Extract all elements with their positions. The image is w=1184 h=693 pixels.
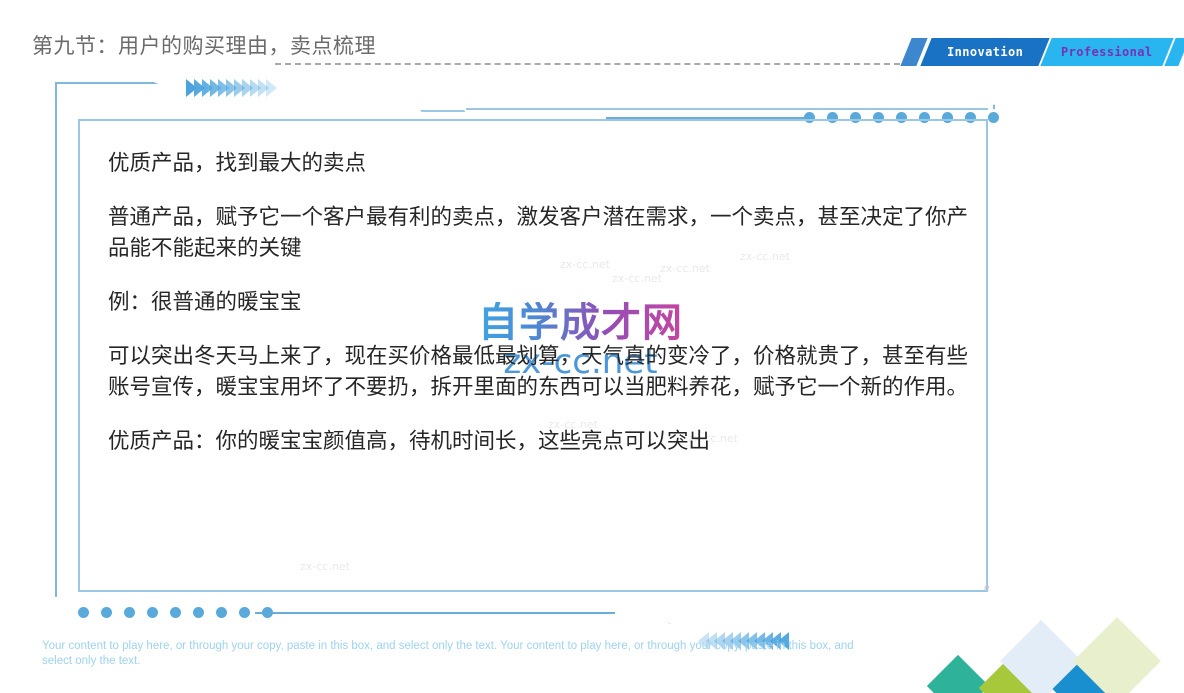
body-paragraph: 优质产品：你的暖宝宝颜值高，待机时间长，这些亮点可以突出 xyxy=(108,426,976,457)
slide-body-text: 优质产品，找到最大的卖点普通产品，赋予它一个客户最有利的卖点，激发客户潜在需求，… xyxy=(108,148,976,457)
dot-connector-line-bottom xyxy=(255,612,615,614)
chevron-row-top-icon xyxy=(186,79,274,97)
corner-mark: e xyxy=(984,583,990,594)
decorative-dot-icon xyxy=(216,607,227,618)
header-dashed-divider xyxy=(275,63,900,65)
decorative-diamonds xyxy=(930,628,1184,693)
inner-frame-step-icon xyxy=(420,110,474,122)
chevron-right-icon xyxy=(266,79,277,97)
decorative-dot-icon xyxy=(262,607,273,618)
slide-canvas: 第九节：用户的购买理由，卖点梳理 Innovation Professional… xyxy=(0,0,1184,693)
decorative-dot-icon xyxy=(239,607,250,618)
inner-frame-top-line xyxy=(466,108,988,110)
decorative-dot-icon xyxy=(78,607,89,618)
body-paragraph: 例：很普通的暖宝宝 xyxy=(108,287,976,318)
badge-professional[interactable]: Professional xyxy=(1040,38,1173,66)
footer-placeholder-text: Your content to play here, or through yo… xyxy=(42,639,882,669)
body-paragraph: 可以突出冬天马上来了，现在买价格最低最划算，天气真的变冷了，价格就贵了，甚至有些… xyxy=(108,341,976,403)
header-badges: Innovation Professional xyxy=(906,38,1184,66)
decorative-dot-icon xyxy=(147,607,158,618)
badge-professional-label: Professional xyxy=(1061,46,1153,58)
badge-innovation-label: Innovation xyxy=(947,46,1023,58)
decorative-dot-icon xyxy=(170,607,181,618)
badge-innovation[interactable]: Innovation xyxy=(920,38,1049,66)
body-paragraph: 普通产品，赋予它一个客户最有利的卖点，激发客户潜在需求，一个卖点，甚至决定了你产… xyxy=(108,202,976,264)
decorative-dot-icon xyxy=(101,607,112,618)
page-title: 第九节：用户的购买理由，卖点梳理 xyxy=(32,30,376,60)
decorative-dot-icon xyxy=(193,607,204,618)
dot-row-bottom-left xyxy=(78,607,273,618)
decorative-dot-icon xyxy=(988,112,999,123)
body-paragraph: 优质产品，找到最大的卖点 xyxy=(108,148,976,179)
decorative-dot-icon xyxy=(124,607,135,618)
